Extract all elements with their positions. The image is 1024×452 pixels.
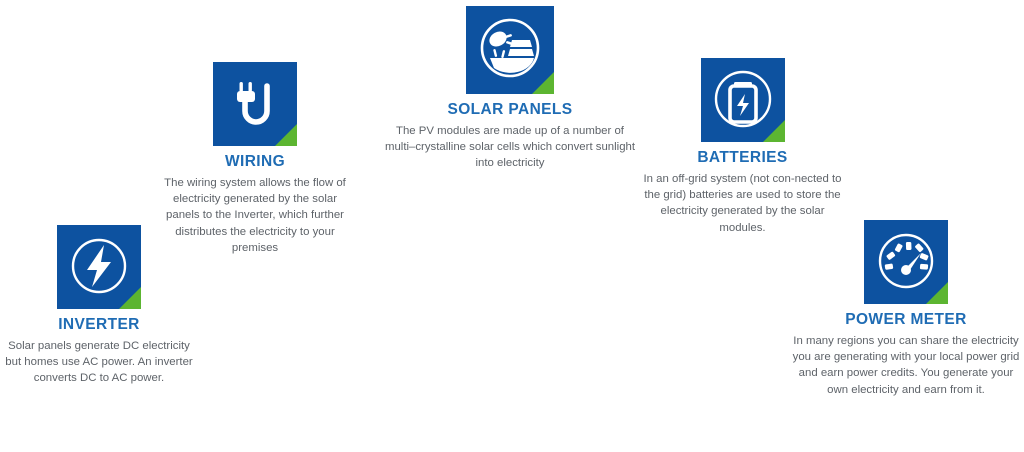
lightning-bolt-icon bbox=[57, 225, 141, 309]
feature-title: POWER METER bbox=[788, 311, 1024, 328]
corner-fold bbox=[275, 124, 297, 146]
corner-fold bbox=[119, 287, 141, 309]
feature-description: The PV modules are made up of a number o… bbox=[380, 123, 640, 172]
corner-fold bbox=[532, 72, 554, 94]
feature-description: Solar panels generate DC electricity but… bbox=[4, 338, 194, 387]
feature-title: INVERTER bbox=[4, 316, 194, 333]
feature-power-meter: POWER METER In many regions you can shar… bbox=[788, 220, 1024, 398]
gauge-icon bbox=[864, 220, 948, 304]
power-plug-icon bbox=[213, 62, 297, 146]
feature-solar-panels: SOLAR PANELS The PV modules are made up … bbox=[380, 6, 640, 172]
solar-panel-sun-icon bbox=[466, 6, 554, 94]
feature-title: BATTERIES bbox=[640, 149, 845, 166]
feature-title: SOLAR PANELS bbox=[380, 101, 640, 118]
feature-title: WIRING bbox=[155, 153, 355, 170]
infographic-canvas: SOLAR PANELS The PV modules are made up … bbox=[0, 0, 1024, 452]
feature-inverter: INVERTER Solar panels generate DC electr… bbox=[4, 225, 194, 387]
battery-icon bbox=[701, 58, 785, 142]
feature-description: In many regions you can share the electr… bbox=[788, 333, 1024, 398]
feature-batteries: BATTERIES In an off-grid system (not con… bbox=[640, 58, 845, 236]
corner-fold bbox=[763, 120, 785, 142]
corner-fold bbox=[926, 282, 948, 304]
